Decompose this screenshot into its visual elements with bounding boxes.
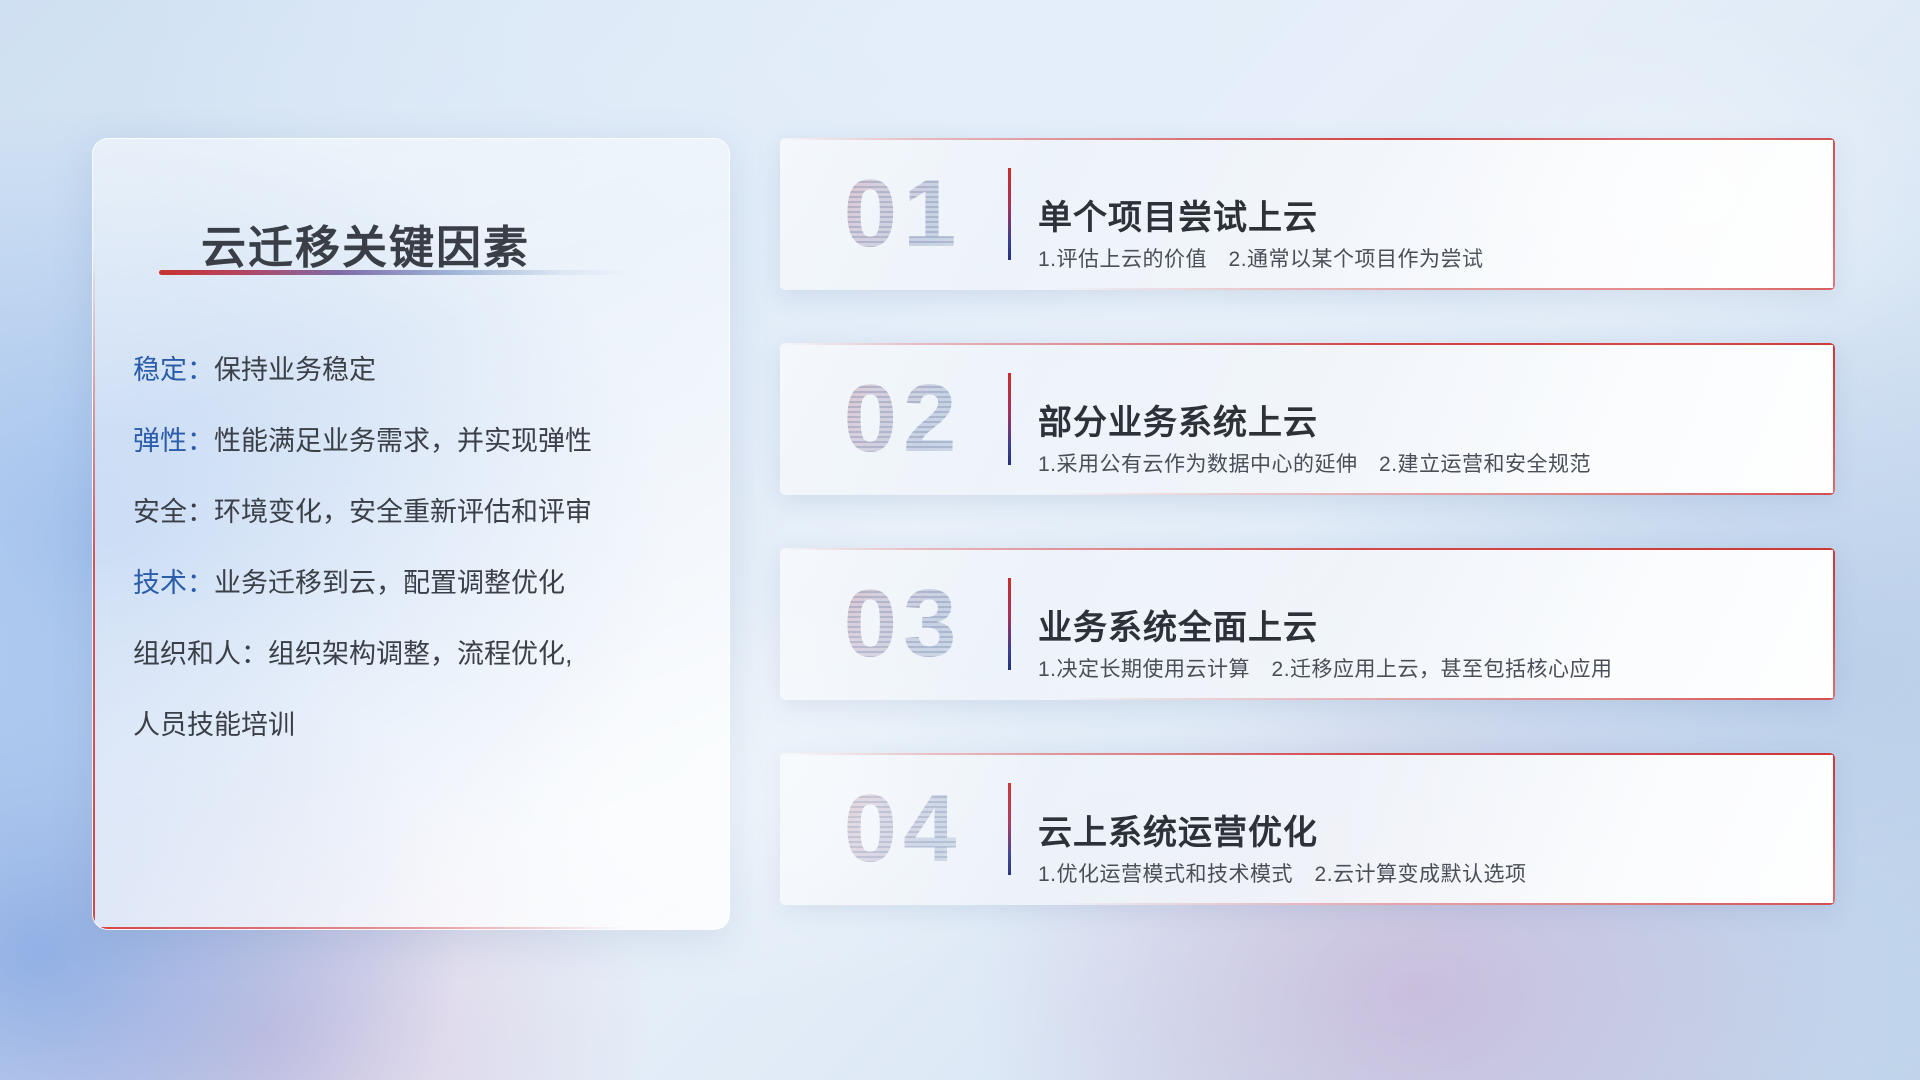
key-factors-list: 稳定：保持业务稳定 弹性：性能满足业务需求，并实现弹性 安全：环境变化，安全重新… [133,357,709,739]
card-top-accent [780,753,1835,755]
card-divider-bar [1008,168,1011,260]
step-description: 1.优化运营模式和技术模式 2.云计算变成默认选项 [1038,858,1527,888]
card-top-accent [780,343,1835,345]
list-item: 稳定：保持业务稳定 [133,357,709,384]
card-right-accent [1833,548,1835,700]
list-item: 弹性：性能满足业务需求，并实现弹性 [133,428,709,455]
list-item: 组织和人：组织架构调整，流程优化, [133,641,709,668]
factor-text: 环境变化，安全重新评估和评审 [214,497,592,527]
step-description: 1.评估上云的价值 2.通常以某个项目作为尝试 [1038,243,1484,273]
factor-text: 保持业务稳定 [214,355,376,385]
step-title: 云上系统运营优化 [1038,805,1318,854]
factor-text: 性能满足业务需求，并实现弹性 [214,426,592,456]
step-description: 1.决定长期使用云计算 2.迁移应用上云，甚至包括核心应用 [1038,653,1613,683]
factor-label: 组织和人： [133,639,268,669]
page-title: 云迁移关键因素 [201,211,530,276]
factor-text: 组织架构调整，流程优化, [268,639,573,669]
list-item: 安全：环境变化，安全重新评估和评审 [133,499,709,526]
card-divider-bar [1008,783,1011,875]
step-number: 04 [808,771,998,887]
factor-text: 人员技能培训 [133,710,295,740]
key-factors-panel: 云迁移关键因素 稳定：保持业务稳定 弹性：性能满足业务需求，并实现弹性 安全：环… [92,138,730,930]
step-card-01[interactable]: 01 单个项目尝试上云 1.评估上云的价值 2.通常以某个项目作为尝试 [780,138,1835,290]
card-bottom-accent [1054,493,1835,495]
step-description: 1.采用公有云作为数据中心的延伸 2.建立运营和安全规范 [1038,448,1591,478]
factor-label: 技术： [133,568,214,598]
card-divider-bar [1008,578,1011,670]
slide-canvas: 云迁移关键因素 稳定：保持业务稳定 弹性：性能满足业务需求，并实现弹性 安全：环… [0,0,1920,1080]
step-card-03[interactable]: 03 业务系统全面上云 1.决定长期使用云计算 2.迁移应用上云，甚至包括核心应… [780,548,1835,700]
factor-label: 弹性： [133,426,214,456]
factor-text: 业务迁移到云，配置调整优化 [214,568,565,598]
step-title: 部分业务系统上云 [1038,395,1318,444]
list-item: 人员技能培训 [133,712,709,739]
step-number: 03 [808,566,998,682]
card-right-accent [1833,343,1835,495]
step-title: 业务系统全面上云 [1038,600,1318,649]
step-number: 02 [808,361,998,477]
card-right-accent [1833,138,1835,290]
step-card-04[interactable]: 04 云上系统运营优化 1.优化运营模式和技术模式 2.云计算变成默认选项 [780,753,1835,905]
card-bottom-accent [1054,698,1835,700]
list-item: 技术：业务迁移到云，配置调整优化 [133,570,709,597]
factor-label: 安全： [133,497,214,527]
card-top-accent [780,548,1835,550]
step-number: 01 [808,156,998,272]
panel-left-accent-line [93,250,95,929]
card-right-accent [1833,753,1835,905]
card-divider-bar [1008,373,1011,465]
title-underline-gradient [159,270,631,275]
panel-bottom-accent-line [93,927,627,929]
factor-label: 稳定： [133,355,214,385]
card-bottom-accent [1054,288,1835,290]
card-top-accent [780,138,1835,140]
card-bottom-accent [1054,903,1835,905]
cloud-journey-steps: 01 单个项目尝试上云 1.评估上云的价值 2.通常以某个项目作为尝试 02 部… [780,138,1835,905]
step-card-02[interactable]: 02 部分业务系统上云 1.采用公有云作为数据中心的延伸 2.建立运营和安全规范 [780,343,1835,495]
step-title: 单个项目尝试上云 [1038,190,1318,239]
